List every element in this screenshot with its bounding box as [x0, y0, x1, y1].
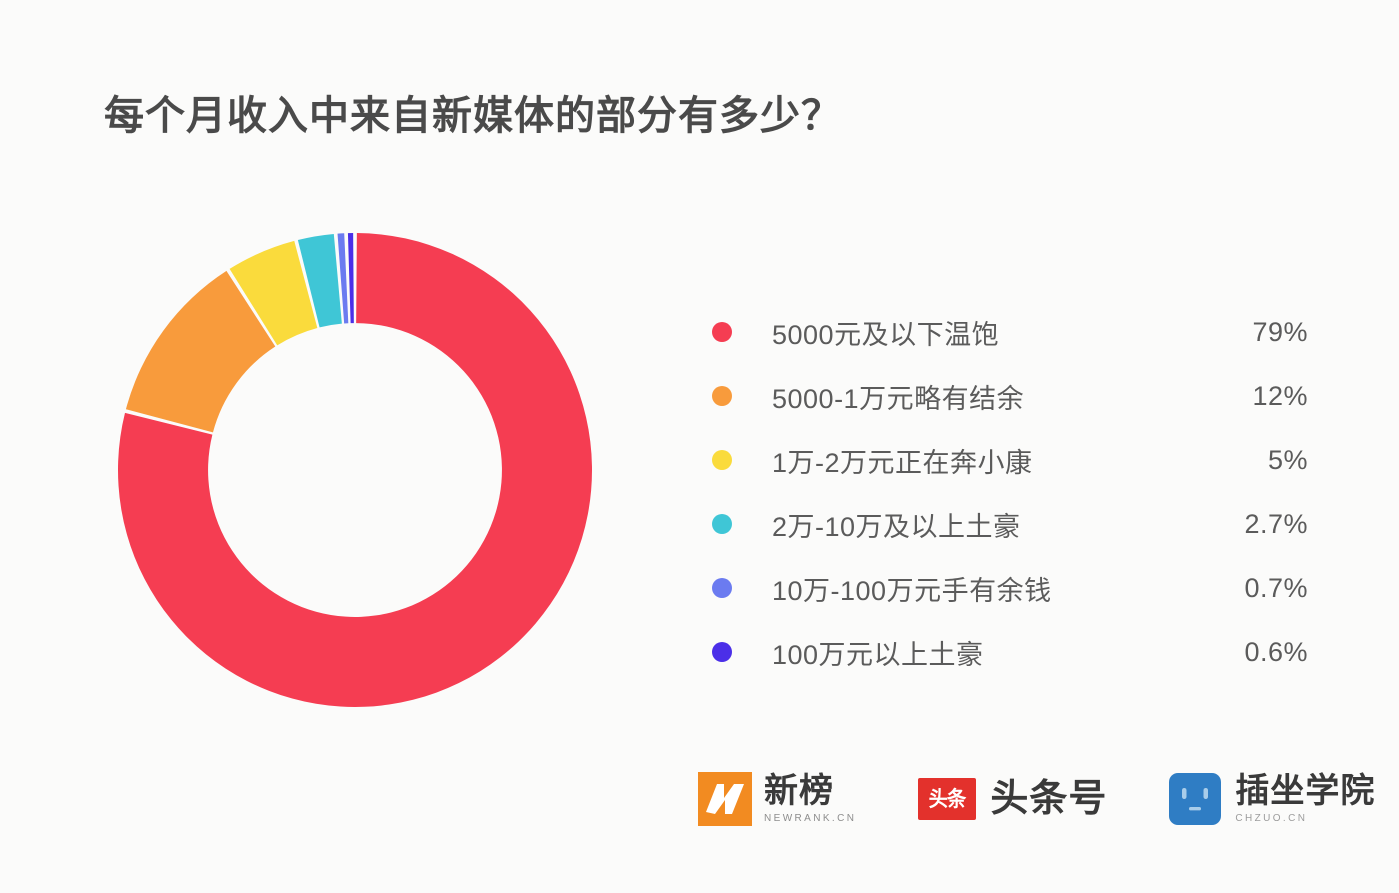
legend-item-4[interactable]: 2万-10万及以上土豪 2.7% [712, 492, 1308, 556]
logo-newrank: 新榜 NEWRANK.CN [698, 772, 856, 826]
legend-value-3: 5% [1198, 445, 1308, 476]
legend-swatch-icon-2 [712, 386, 732, 406]
chazuo-name: 插坐学院 [1235, 774, 1375, 808]
toutiao-mark-text: 头条 [929, 789, 966, 810]
chazuo-wordmark: 插坐学院 CHZUO.CN [1235, 774, 1375, 824]
legend-swatch-icon-1 [712, 322, 732, 342]
newrank-name: 新榜 [764, 774, 856, 808]
newrank-wordmark: 新榜 NEWRANK.CN [764, 774, 856, 824]
legend-value-5: 0.7% [1198, 573, 1308, 604]
legend-label-6: 100万元以上土豪 [772, 633, 1198, 672]
chazuo-subtitle: CHZUO.CN [1235, 813, 1375, 824]
toutiaohao-name: 头条号 [990, 780, 1107, 818]
legend-value-4: 2.7% [1198, 509, 1308, 540]
legend-swatch-icon-3 [712, 450, 732, 470]
toutiao-mark-icon: 头条 [918, 778, 976, 820]
legend-item-3[interactable]: 1万-2万元正在奔小康 5% [712, 428, 1308, 492]
donut-chart [118, 233, 592, 707]
legend-swatch-icon-5 [712, 578, 732, 598]
legend-value-2: 12% [1198, 381, 1308, 412]
legend-label-3: 1万-2万元正在奔小康 [772, 441, 1198, 480]
logo-chazuo: 插坐学院 CHZUO.CN [1169, 773, 1375, 825]
footer-logo-bar: 新榜 NEWRANK.CN 头条 头条号 插坐学院 CHZUO.CN [698, 772, 1375, 826]
legend-label-1: 5000元及以下温饱 [772, 313, 1198, 352]
legend-label-2: 5000-1万元略有结余 [772, 377, 1198, 416]
chazuo-mark-icon [1169, 773, 1221, 825]
legend-value-6: 0.6% [1198, 637, 1308, 668]
logo-toutiaohao: 头条 头条号 [918, 778, 1107, 820]
newrank-mark-icon [698, 772, 752, 826]
legend-swatch-icon-4 [712, 514, 732, 534]
newrank-subtitle: NEWRANK.CN [764, 813, 856, 824]
slide-canvas: 每个月收入中来自新媒体的部分有多少？ 5000元及以下温饱 79% 5000-1… [0, 0, 1399, 893]
legend-label-4: 2万-10万及以上土豪 [772, 505, 1198, 544]
page-title: 每个月收入中来自新媒体的部分有多少？ [104, 83, 842, 141]
legend-item-6[interactable]: 100万元以上土豪 0.6% [712, 620, 1308, 684]
donut-slice-6[interactable] [348, 233, 354, 323]
donut-slice-group [118, 233, 592, 707]
legend-item-2[interactable]: 5000-1万元略有结余 12% [712, 364, 1308, 428]
legend-label-5: 10万-100万元手有余钱 [772, 569, 1198, 608]
chart-legend: 5000元及以下温饱 79% 5000-1万元略有结余 12% 1万-2万元正在… [712, 300, 1308, 684]
legend-swatch-icon-6 [712, 642, 732, 662]
legend-item-1[interactable]: 5000元及以下温饱 79% [712, 300, 1308, 364]
donut-chart-svg [118, 233, 592, 707]
legend-item-5[interactable]: 10万-100万元手有余钱 0.7% [712, 556, 1308, 620]
legend-value-1: 79% [1198, 317, 1308, 348]
